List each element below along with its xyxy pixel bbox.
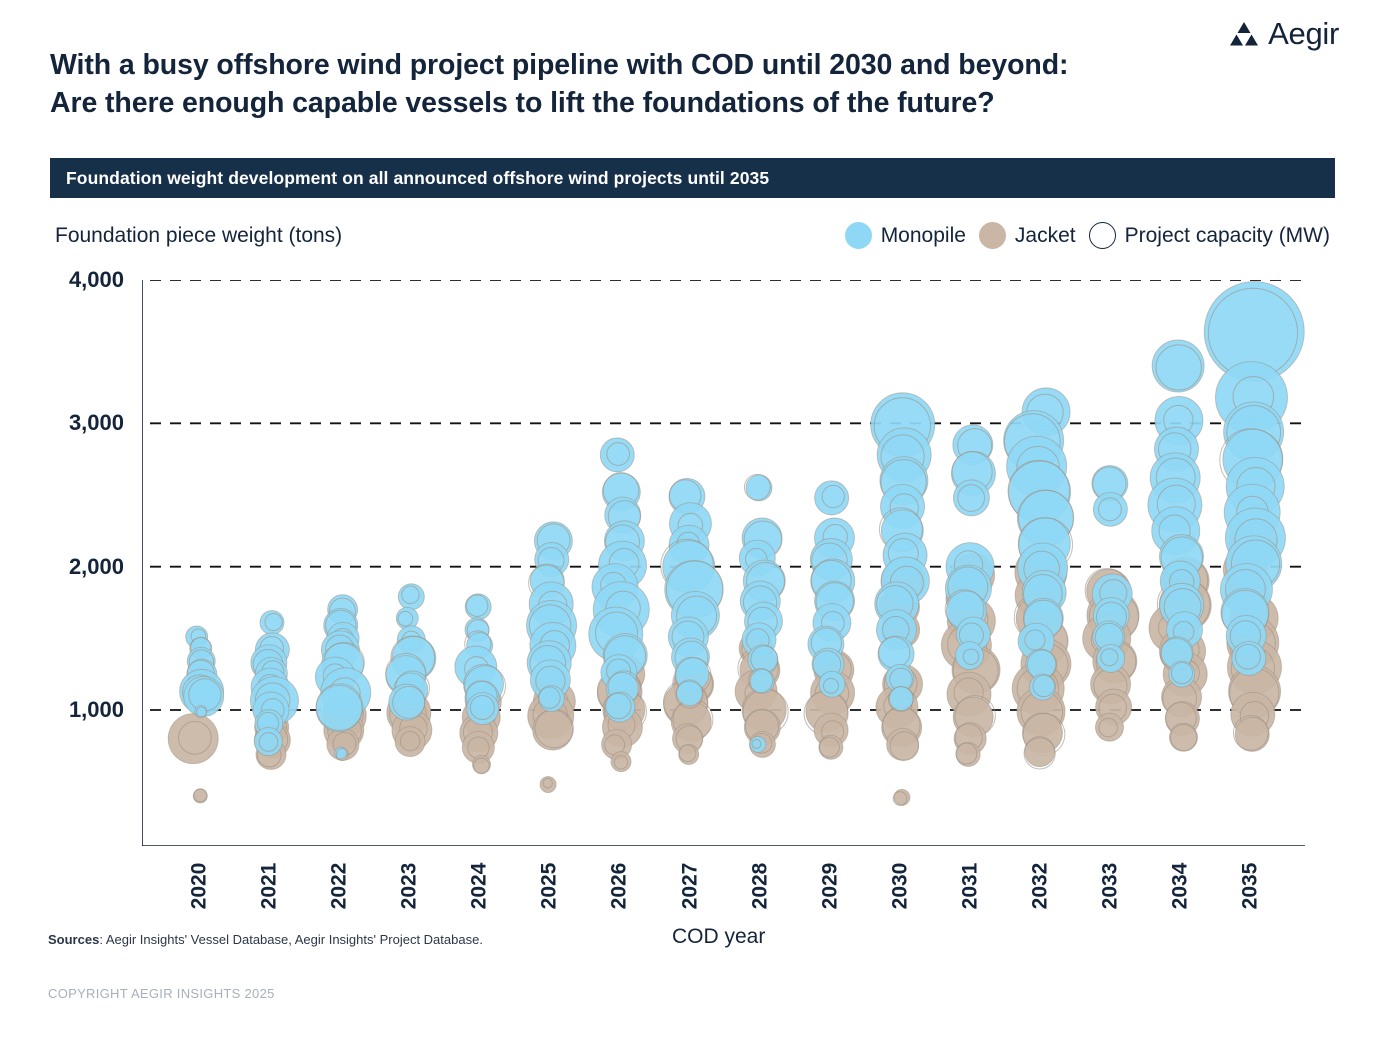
x-axis-tick-2035: 2035 — [1210, 848, 1290, 898]
x-axis-tick-label: 2022 — [328, 863, 352, 910]
chart-axes — [142, 280, 1305, 846]
bubble-jacket — [887, 728, 919, 760]
legend-item-monopile[interactable]: Monopile — [845, 222, 966, 249]
x-axis-tick-2033: 2033 — [1070, 848, 1150, 898]
legend-item-jacket[interactable]: Jacket — [979, 222, 1076, 249]
headline-line-1: With a busy offshore wind project pipeli… — [50, 47, 1280, 85]
legend-swatch-jacket-icon — [979, 222, 1006, 249]
x-axis-tick-2021: 2021 — [230, 848, 310, 898]
x-axis-tick-label: 2031 — [958, 863, 982, 910]
x-axis-tick-label: 2035 — [1238, 863, 1262, 910]
x-axis-tick-label: 2028 — [748, 863, 772, 910]
x-axis-tick-label: 2023 — [398, 863, 422, 910]
x-axis-tick-2034: 2034 — [1140, 848, 1220, 898]
bubble-jacket — [1025, 737, 1055, 767]
bubble-monopile — [953, 480, 989, 516]
y-axis-tick-label: 3,000 — [69, 410, 124, 436]
brand-logo: Aegir — [1229, 18, 1339, 49]
legend-swatch-capacity-icon — [1089, 222, 1116, 249]
x-axis-tick-labels: 2020202120222023202420252026202720282029… — [142, 848, 1305, 928]
y-axis-tick-labels: 1,0002,0003,0004,000 — [0, 0, 142, 1040]
x-axis-tick-label: 2021 — [258, 863, 282, 910]
sources-label: Sources — [48, 932, 99, 947]
legend-label-project-capacity: Project capacity (MW) — [1125, 224, 1330, 248]
x-axis-tick-label: 2034 — [1168, 863, 1192, 910]
x-axis-tick-2031: 2031 — [930, 848, 1010, 898]
x-axis-tick-label: 2033 — [1098, 863, 1122, 910]
x-axis-title: COD year — [672, 925, 765, 949]
y-axis-tick-label: 2,000 — [69, 554, 124, 580]
page-title: With a busy offshore wind project pipeli… — [50, 47, 1280, 123]
chart-section-title: Foundation weight development on all ann… — [50, 168, 769, 189]
x-axis-tick-2030: 2030 — [860, 848, 940, 898]
copyright-note: COPYRIGHT AEGIR INSIGHTS 2025 — [48, 986, 275, 1001]
aegir-triangles-icon — [1229, 21, 1259, 47]
y-axis-tick-label: 1,000 — [69, 697, 124, 723]
x-axis-tick-2029: 2029 — [790, 848, 870, 898]
x-axis-tick-2025: 2025 — [510, 848, 590, 898]
x-axis-tick-2026: 2026 — [580, 848, 660, 898]
x-axis-tick-2024: 2024 — [440, 848, 520, 898]
legend-label-jacket: Jacket — [1015, 224, 1076, 248]
x-axis-tick-2027: 2027 — [650, 848, 730, 898]
x-axis-tick-label: 2032 — [1028, 863, 1052, 910]
bubble-monopile — [676, 680, 702, 706]
sources-text: : Aegir Insights' Vessel Database, Aegir… — [99, 932, 483, 947]
x-axis-tick-2028: 2028 — [720, 848, 800, 898]
x-axis-tick-label: 2029 — [818, 863, 842, 910]
x-axis-tick-2020: 2020 — [159, 848, 239, 898]
headline-line-2: Are there enough capable vessels to lift… — [50, 85, 1280, 123]
legend-label-monopile: Monopile — [881, 224, 966, 248]
x-axis-tick-label: 2026 — [608, 863, 632, 910]
legend-item-project-capacity[interactable]: Project capacity (MW) — [1089, 222, 1330, 249]
legend-swatch-monopile-icon — [845, 222, 872, 249]
bubble-chart-plot — [142, 280, 1305, 846]
sources-note: Sources: Aegir Insights' Vessel Database… — [48, 932, 483, 947]
x-axis-tick-label: 2025 — [538, 863, 562, 910]
y-axis-tick-label: 4,000 — [69, 267, 124, 293]
x-axis-tick-2022: 2022 — [300, 848, 380, 898]
x-axis-tick-label: 2030 — [888, 863, 912, 910]
x-axis-tick-2023: 2023 — [370, 848, 450, 898]
x-axis-tick-2032: 2032 — [1000, 848, 1080, 898]
x-axis-tick-label: 2024 — [468, 863, 492, 910]
bubble-monopile — [746, 475, 772, 501]
x-axis-tick-label: 2020 — [187, 863, 211, 910]
plot-canvas — [142, 280, 1305, 846]
brand-name: Aegir — [1268, 18, 1339, 49]
x-axis-tick-label: 2027 — [678, 863, 702, 910]
chart-section-bar: Foundation weight development on all ann… — [50, 158, 1335, 198]
bubble-monopile — [1152, 340, 1204, 392]
chart-legend: Monopile Jacket Project capacity (MW) — [845, 222, 1330, 249]
bubble-jacket — [533, 710, 573, 750]
